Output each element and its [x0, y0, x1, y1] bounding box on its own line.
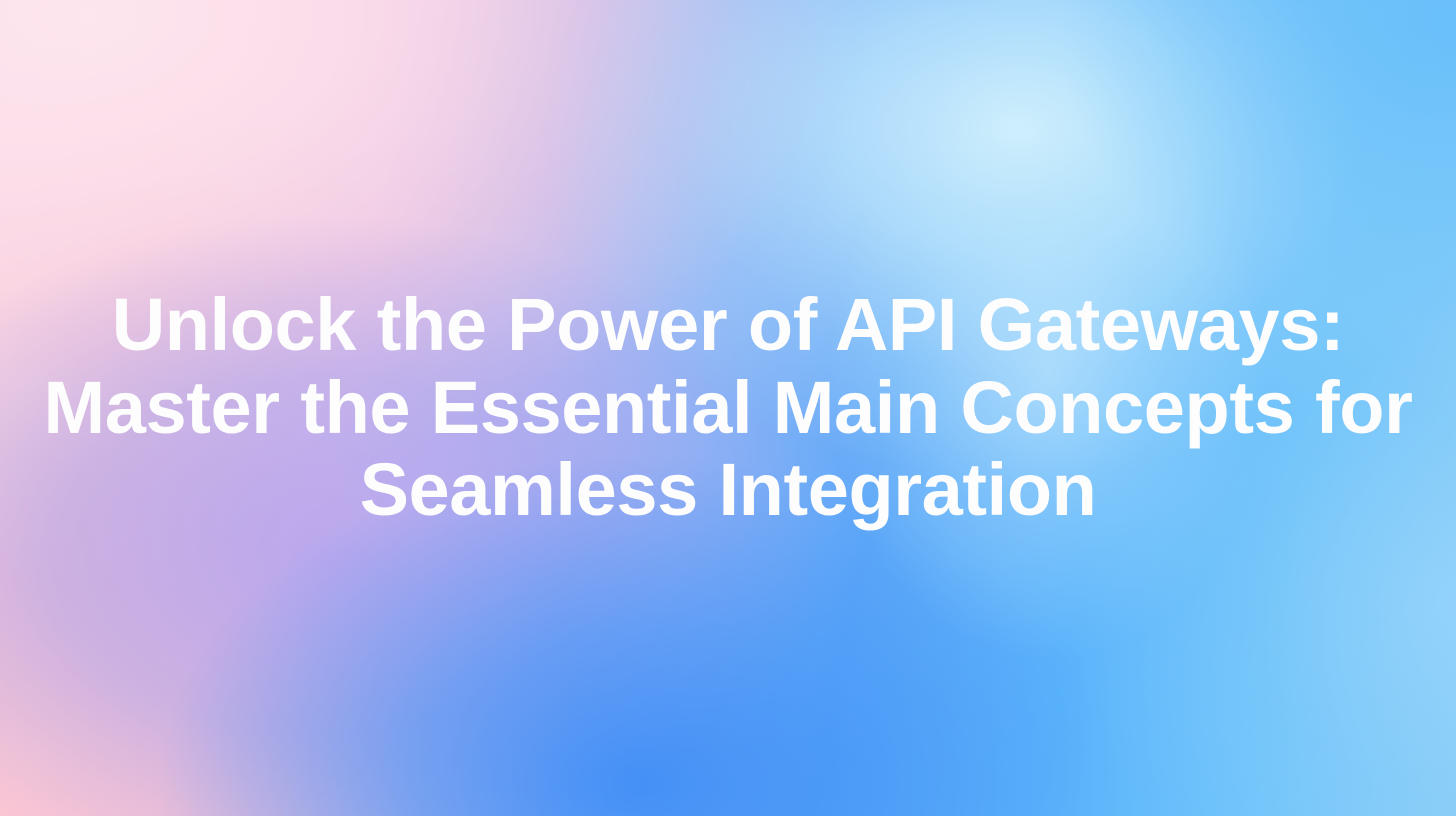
- headline-container: Unlock the Power of API Gateways: Master…: [0, 0, 1456, 816]
- hero-headline: Unlock the Power of API Gateways: Master…: [14, 284, 1442, 533]
- hero-banner: Unlock the Power of API Gateways: Master…: [0, 0, 1456, 816]
